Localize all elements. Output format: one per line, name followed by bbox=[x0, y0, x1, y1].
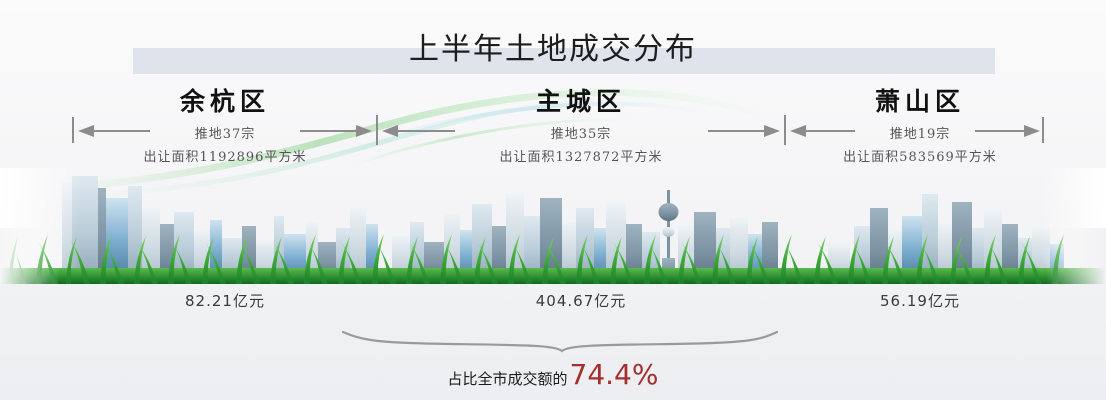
footer-percent-value: 74.4% bbox=[570, 358, 659, 391]
amount-label-zhucheng: 404.67亿元 bbox=[481, 290, 681, 311]
region-name: 萧山区 bbox=[825, 82, 1015, 118]
region-name: 余杭区 bbox=[135, 82, 315, 118]
region-block-zhucheng: 主城区 推地35宗 出让面积1327872平方米 bbox=[481, 82, 681, 165]
grass-illustration bbox=[0, 228, 1106, 284]
distribution-gradient-bar bbox=[145, 313, 995, 324]
region-name: 主城区 bbox=[481, 82, 681, 118]
region-parcels: 推地19宗 bbox=[825, 123, 1015, 142]
amount-label-yuhang: 82.21亿元 bbox=[135, 290, 315, 311]
region-area: 出让面积1327872平方米 bbox=[481, 146, 681, 165]
footer-prefix-text: 占比全市成交额的 bbox=[448, 370, 568, 388]
region-block-xiaoshan: 萧山区 推地19宗 出让面积583569平方米 bbox=[825, 82, 1015, 165]
amount-label-xiaoshan: 56.19亿元 bbox=[825, 290, 1015, 311]
curly-brace bbox=[340, 326, 780, 354]
region-parcels: 推地37宗 bbox=[135, 123, 315, 142]
footer-annotation: 占比全市成交额的74.4% bbox=[0, 358, 1106, 391]
region-area: 出让面积1192896平方米 bbox=[135, 146, 315, 165]
page-title: 上半年土地成交分布 bbox=[0, 24, 1106, 68]
region-parcels: 推地35宗 bbox=[481, 123, 681, 142]
region-block-yuhang: 余杭区 推地37宗 出让面积1192896平方米 bbox=[135, 82, 315, 165]
region-area: 出让面积583569平方米 bbox=[825, 146, 1015, 165]
infographic-canvas: 上半年土地成交分布 bbox=[0, 0, 1106, 400]
